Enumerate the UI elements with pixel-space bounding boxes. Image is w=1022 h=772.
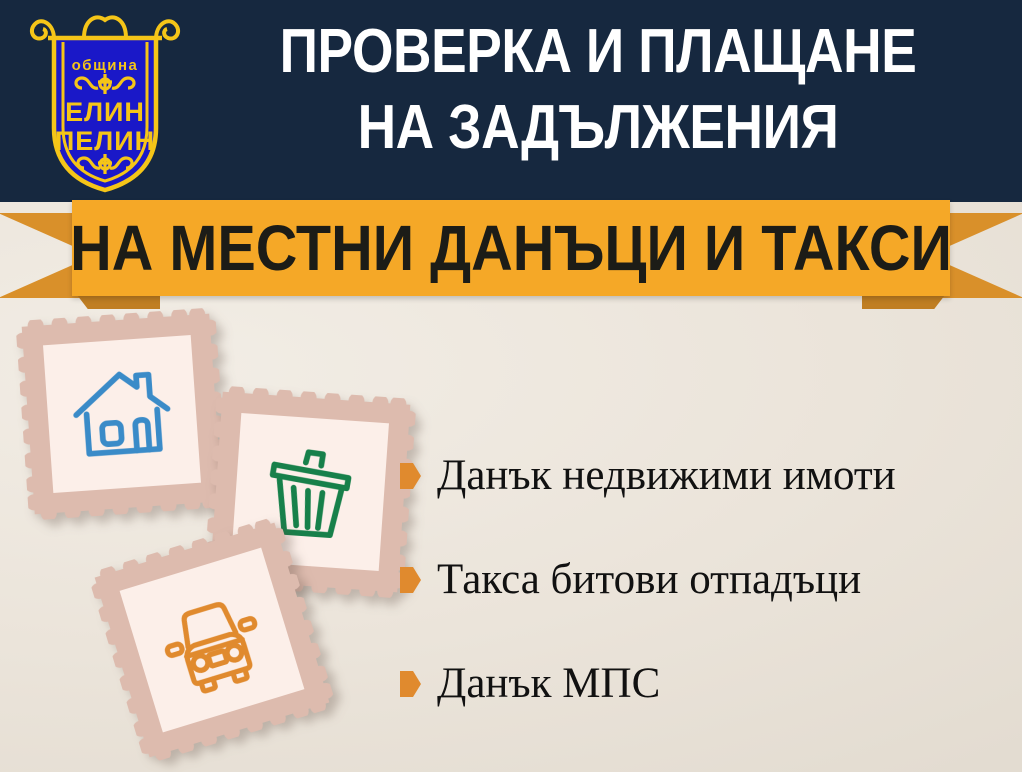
poster-root: община ЕЛИН ПЕЛИН [0, 0, 1022, 772]
svg-text:община: община [72, 57, 139, 74]
list-item-label: Данък МПС [437, 660, 660, 708]
list-item[interactable]: Такса битови отпадъци [400, 528, 1010, 632]
svg-text:ПЕЛИН: ПЕЛИН [55, 126, 155, 156]
ribbon-text: НА МЕСТНИ ДАНЪЦИ И ТАКСИ [116, 200, 906, 296]
list-item[interactable]: Данък недвижими имоти [400, 424, 1010, 528]
bullet-arrow-icon [400, 671, 421, 697]
house-icon [15, 307, 228, 520]
tax-type-list: Данък недвижими имоти Такса битови отпад… [400, 424, 1010, 736]
municipality-crest: община ЕЛИН ПЕЛИН [22, 8, 188, 196]
stamp-card-house [15, 307, 228, 520]
page-title: ПРОВЕРКА И ПЛАЩАНЕ НА ЗАДЪЛЖЕНИЯ [247, 14, 949, 166]
list-item-label: Данък недвижими имоти [437, 452, 896, 500]
svg-text:ЕЛИН: ЕЛИН [65, 97, 145, 127]
ribbon-body: НА МЕСТНИ ДАНЪЦИ И ТАКСИ [72, 200, 950, 296]
list-item[interactable]: Данък МПС [400, 632, 1010, 736]
bullet-arrow-icon [400, 463, 421, 489]
ribbon-banner: НА МЕСТНИ ДАНЪЦИ И ТАКСИ [0, 196, 1022, 314]
bullet-arrow-icon [400, 567, 421, 593]
header-bar: община ЕЛИН ПЕЛИН [0, 0, 1022, 202]
list-item-label: Такса битови отпадъци [437, 556, 861, 604]
